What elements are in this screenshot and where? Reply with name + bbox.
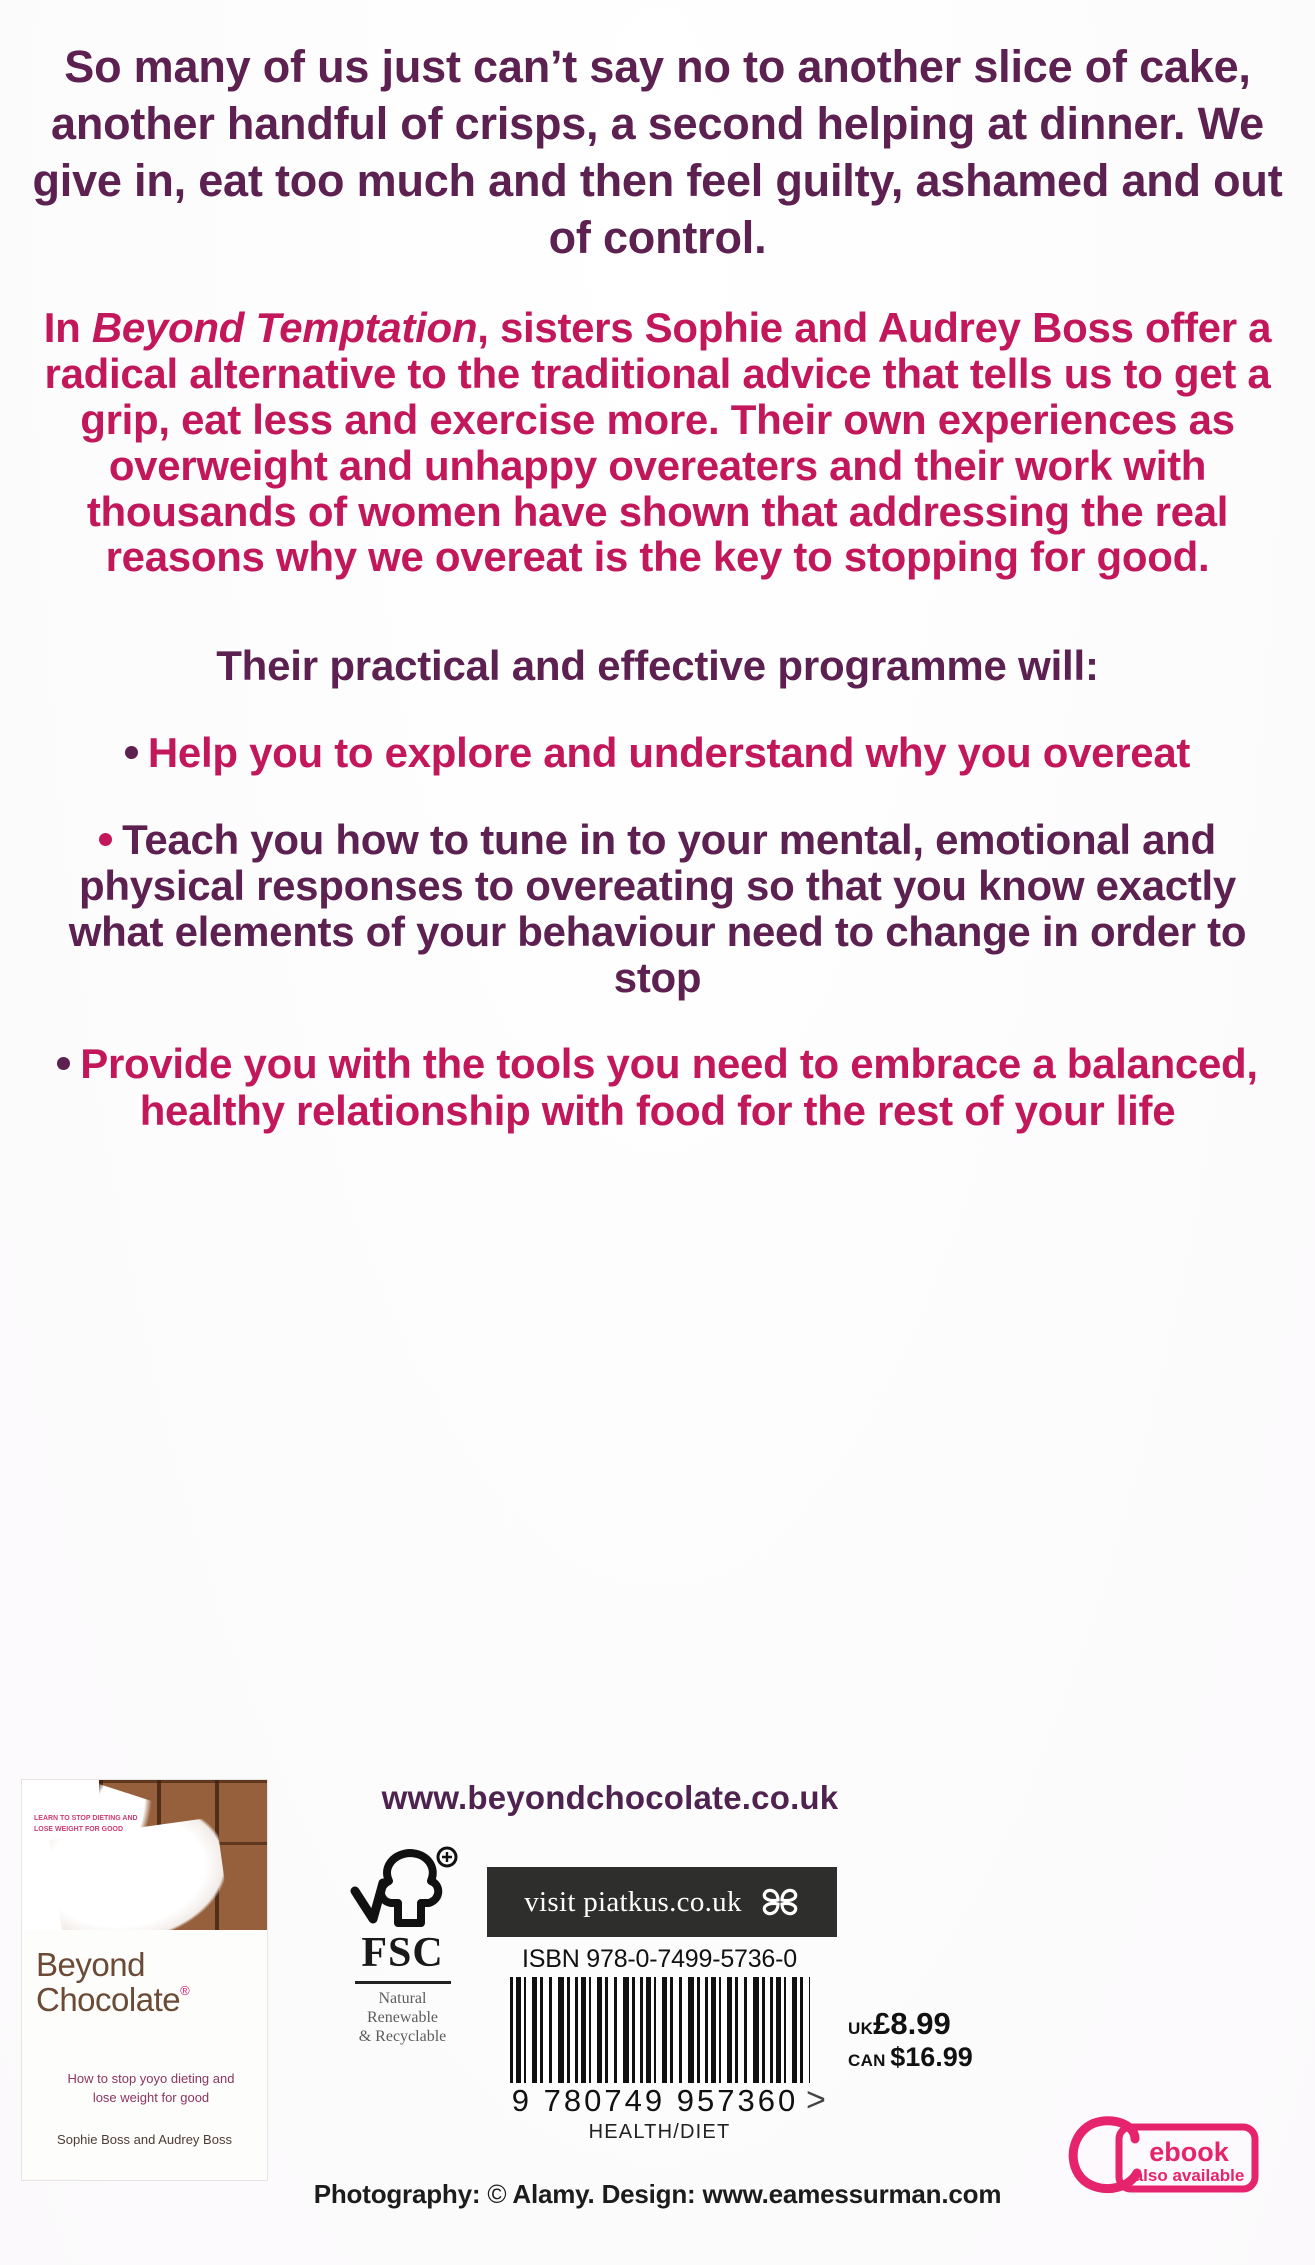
book-back-cover: So many of us just can’t say no to anoth… <box>0 0 1315 2265</box>
blurb-prefix: In <box>44 304 92 351</box>
price-can: CAN $16.99 <box>848 2042 973 2072</box>
website-url[interactable]: www.beyondchocolate.co.uk <box>300 1779 920 1817</box>
list-item: Teach you how to tune in to your mental,… <box>26 817 1289 1002</box>
barcode-digit-group-1: 780749 <box>544 2083 665 2118</box>
fsc-wordmark: FSC <box>330 1935 475 1973</box>
piatkus-logo-icon <box>760 1882 800 1922</box>
thumbnail-title-line-2: Chocolate <box>36 1981 180 2018</box>
lead-paragraph: So many of us just can’t say no to anoth… <box>26 0 1289 267</box>
blurb-paragraph: In Beyond Temptation, sisters Sophie and… <box>26 305 1289 581</box>
bullet-dot-icon <box>125 746 138 759</box>
publisher-bar-label: visit piatkus.co.uk <box>524 1886 742 1919</box>
barcode-digit-group-2: 957360 <box>677 2083 798 2118</box>
programme-bullet-list: Help you to explore and understand why y… <box>26 730 1289 1133</box>
fsc-caption-line-2: Renewable <box>330 2009 475 2028</box>
ebook-badge-line-1-text: ebook <box>1149 2137 1229 2167</box>
list-item-label: Help you to explore and understand why y… <box>148 729 1190 776</box>
barcode-caret-icon: > <box>806 2081 826 2120</box>
thumbnail-strapline: LEARN TO STOP DIETING AND LOSE WEIGHT FO… <box>34 1814 144 1835</box>
fsc-caption-line-1: Natural <box>330 1990 475 2009</box>
fsc-logo: FSC Natural Renewable & Recyclable <box>330 1843 475 2046</box>
chocolate-photo <box>22 1780 267 1930</box>
barcode-digit-prefix: 9 <box>512 2083 532 2118</box>
design-label: Design: <box>602 2179 696 2209</box>
list-item-label: Provide you with the tools you need to e… <box>80 1040 1258 1133</box>
category-label: HEALTH/DIET <box>487 2121 832 2144</box>
price-uk-amount: £8.99 <box>873 2006 951 2041</box>
photography-design-credit: Photography: © Alamy. Design: www.eamess… <box>0 2179 1315 2210</box>
price-can-amount: $16.99 <box>890 2042 973 2072</box>
list-item-label: Teach you how to tune in to your mental,… <box>69 816 1246 1002</box>
price-block: UK£8.99 CAN $16.99 <box>848 2007 973 2072</box>
thumbnail-authors: Sophie Boss and Audrey Boss <box>22 2132 267 2147</box>
barcode-digits: 9 780749 957360 <box>470 2083 840 2119</box>
isbn-label: ISBN 978-0-7499-5736-0 <box>487 1945 832 1974</box>
fsc-caption: Natural Renewable & Recyclable <box>330 1990 475 2047</box>
list-item: Provide you with the tools you need to e… <box>26 1041 1289 1133</box>
list-item: Help you to explore and understand why y… <box>26 730 1289 776</box>
bullet-dot-icon <box>99 833 112 846</box>
book-title-italic: Beyond Temptation <box>92 304 477 351</box>
price-uk-currency: UK <box>848 2019 873 2038</box>
design-source: www.eamessurman.com <box>703 2179 1002 2209</box>
beyond-chocolate-cover-thumbnail: LEARN TO STOP DIETING AND LOSE WEIGHT FO… <box>22 1780 267 2180</box>
fsc-divider <box>355 1981 451 1984</box>
copyright-icon: © <box>487 2179 506 2209</box>
cover-footer: LEARN TO STOP DIETING AND LOSE WEIGHT FO… <box>0 1745 1315 2265</box>
thumbnail-title: Beyond Chocolate® <box>36 1948 189 2018</box>
barcode-image <box>510 1977 810 2083</box>
registered-trademark-icon: ® <box>180 1983 189 1998</box>
photography-label: Photography: <box>314 2179 481 2209</box>
photography-source: Alamy. <box>512 2179 594 2209</box>
thumbnail-title-line-1: Beyond <box>36 1946 145 1983</box>
thumbnail-subtitle: How to stop yoyo dieting and lose weight… <box>56 2070 246 2108</box>
fsc-tree-icon <box>330 1843 475 1935</box>
fsc-caption-line-3: & Recyclable <box>330 2028 475 2047</box>
price-can-currency: CAN <box>848 2051 886 2070</box>
programme-heading: Their practical and effective programme … <box>26 642 1289 690</box>
bullet-dot-icon <box>57 1057 70 1070</box>
publisher-bar[interactable]: visit piatkus.co.uk <box>487 1867 837 1937</box>
price-uk: UK£8.99 <box>848 2007 973 2042</box>
